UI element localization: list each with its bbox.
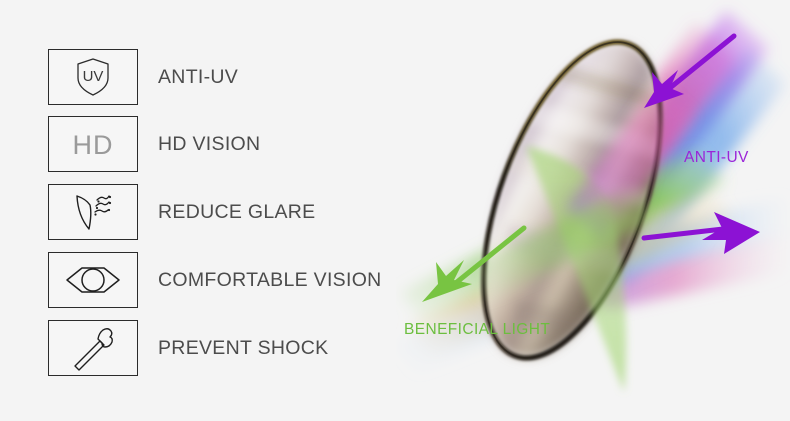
feature-row-reduce-glare: REDUCE GLARE	[48, 183, 428, 241]
icon-box-comfortable-vision	[48, 252, 138, 308]
lens-feature-infographic: UV ANTI-UV HD HD VISION	[0, 0, 790, 421]
anti-uv-ray-label: ANTI-UV	[684, 149, 749, 166]
icon-box-reduce-glare	[48, 184, 138, 240]
icon-box-prevent-shock	[48, 320, 138, 376]
feature-label-prevent-shock: PREVENT SHOCK	[158, 337, 328, 360]
eye-icon	[64, 263, 122, 297]
beneficial-light-ray-label: BENEFICIAL LIGHT	[404, 321, 550, 338]
feature-label-reduce-glare: REDUCE GLARE	[158, 201, 315, 224]
feature-row-prevent-shock: PREVENT SHOCK	[48, 319, 428, 377]
hd-text-icon: HD	[63, 124, 123, 164]
feature-row-comfortable-vision: COMFORTABLE VISION	[48, 251, 428, 309]
uv-shield-icon: UV	[70, 54, 116, 100]
hammer-icon	[69, 325, 117, 371]
feature-label-hd-vision: HD VISION	[158, 133, 260, 156]
uv-shield-text: UV	[83, 68, 104, 85]
feature-label-anti-uv: ANTI-UV	[158, 66, 238, 89]
hd-icon-text: HD	[73, 130, 114, 160]
icon-box-hd-vision: HD	[48, 116, 138, 172]
glare-reduction-icon	[68, 190, 118, 234]
feature-label-comfortable-vision: COMFORTABLE VISION	[158, 269, 382, 292]
optical-lens-coating-diagram: ANTI-UV BENEFICIAL LIGHT	[396, 0, 790, 421]
feature-row-anti-uv: UV ANTI-UV	[48, 48, 428, 106]
feature-row-hd-vision: HD HD VISION	[48, 115, 428, 173]
icon-box-anti-uv: UV	[48, 49, 138, 105]
